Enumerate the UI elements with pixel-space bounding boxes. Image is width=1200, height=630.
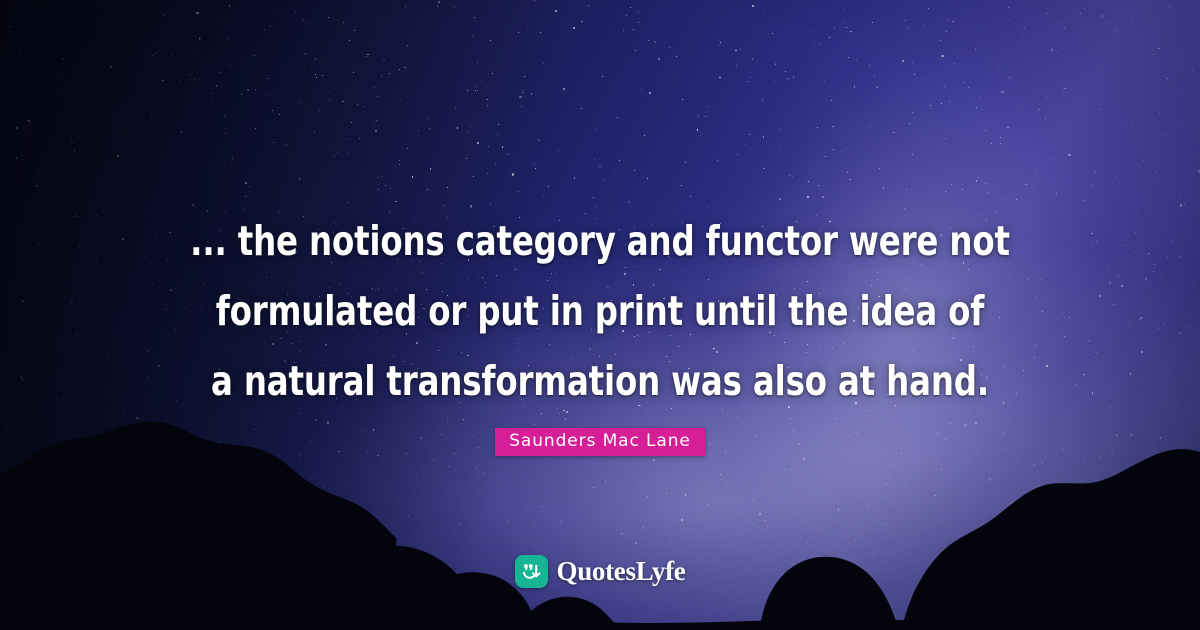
brand-logo[interactable]: QuotesLyfe	[0, 555, 1200, 588]
brand-name-label: QuotesLyfe	[557, 558, 686, 585]
quote-line-1: ... the notions category and functor wer…	[72, 206, 1128, 276]
quote-image-canvas: ... the notions category and functor wer…	[0, 0, 1200, 630]
quote-line-2: formulated or put in print until the ide…	[72, 276, 1128, 346]
author-name-badge[interactable]: Saunders Mac Lane	[495, 428, 705, 456]
quote-line-3: a natural transformation was also at han…	[72, 346, 1128, 416]
author-badge-container: Saunders Mac Lane	[0, 428, 1200, 456]
quote-mark-swoosh-icon	[515, 555, 548, 588]
quote-text: ... the notions category and functor wer…	[0, 206, 1200, 416]
tree-silhouette-foreground	[0, 380, 1200, 630]
